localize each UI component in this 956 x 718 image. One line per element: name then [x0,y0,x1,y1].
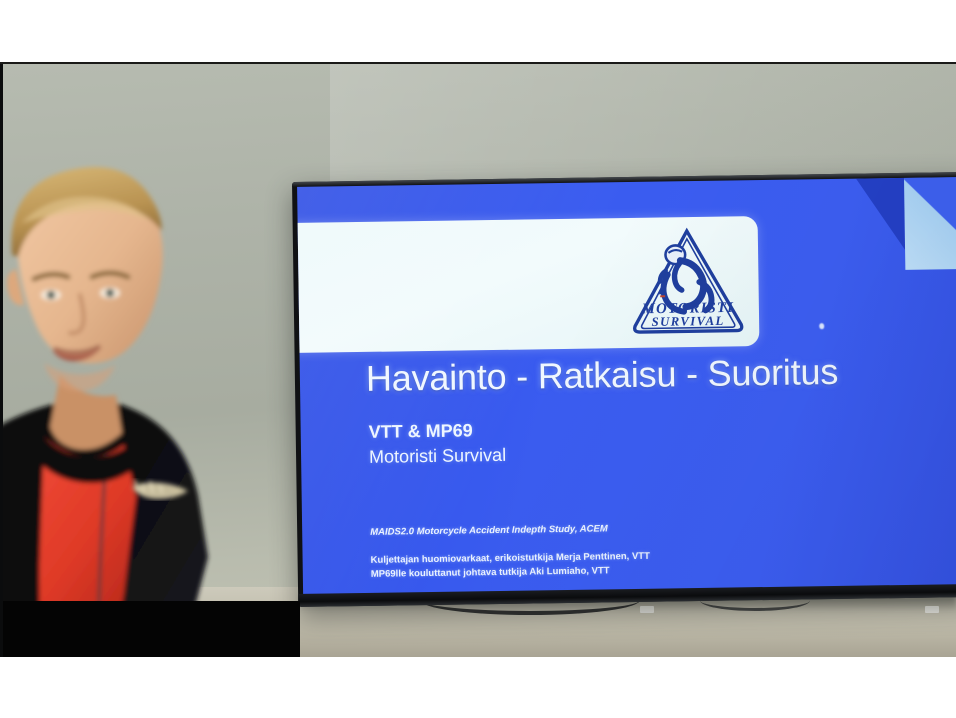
slide-title: Havainto - Ratkaisu - Suoritus [366,351,839,400]
chin-shadow [44,363,116,391]
video-frame: MOTORISTI SURVIVAL Havainto - Ratkaisu -… [0,62,956,657]
slide-subtitle: VTT & MP69 Motoristi Survival [369,418,507,470]
slide-footnote-source: MAIDS2.0 Motorcycle Accident Indepth Stu… [370,522,649,540]
corner-triangle-light-icon [904,177,956,270]
corner-triangle-dark-icon [856,178,905,251]
slide-corner-decoration [856,177,956,287]
presentation-slide: MOTORISTI SURVIVAL Havainto - Ratkaisu -… [297,177,956,594]
video-left-edge [0,64,3,657]
slide-logo-banner: MOTORISTI SURVIVAL [297,216,759,353]
svg-text:SURVIVAL: SURVIVAL [652,314,725,329]
tv-stand-nub-right [925,606,939,613]
presentation-tv[interactable]: MOTORISTI SURVIVAL Havainto - Ratkaisu -… [292,172,956,607]
motoristi-survival-logo-icon: MOTORISTI SURVIVAL [628,222,748,342]
slide-footnote-credit-2: MP69lle kouluttanut johtava tutkija Aki … [371,564,650,582]
slide-subtitle-line1: VTT & MP69 [369,418,506,445]
slide-subtitle-line2: Motoristi Survival [369,443,506,470]
tv-stand-nub-left [640,606,654,613]
slide-speck [819,323,824,329]
video-bottom-dark-area [0,601,300,657]
speaker-person [0,137,312,657]
slide-footnotes: MAIDS2.0 Motorcycle Accident Indepth Stu… [370,522,650,582]
screenshot-page: MOTORISTI SURVIVAL Havainto - Ratkaisu -… [0,0,956,718]
